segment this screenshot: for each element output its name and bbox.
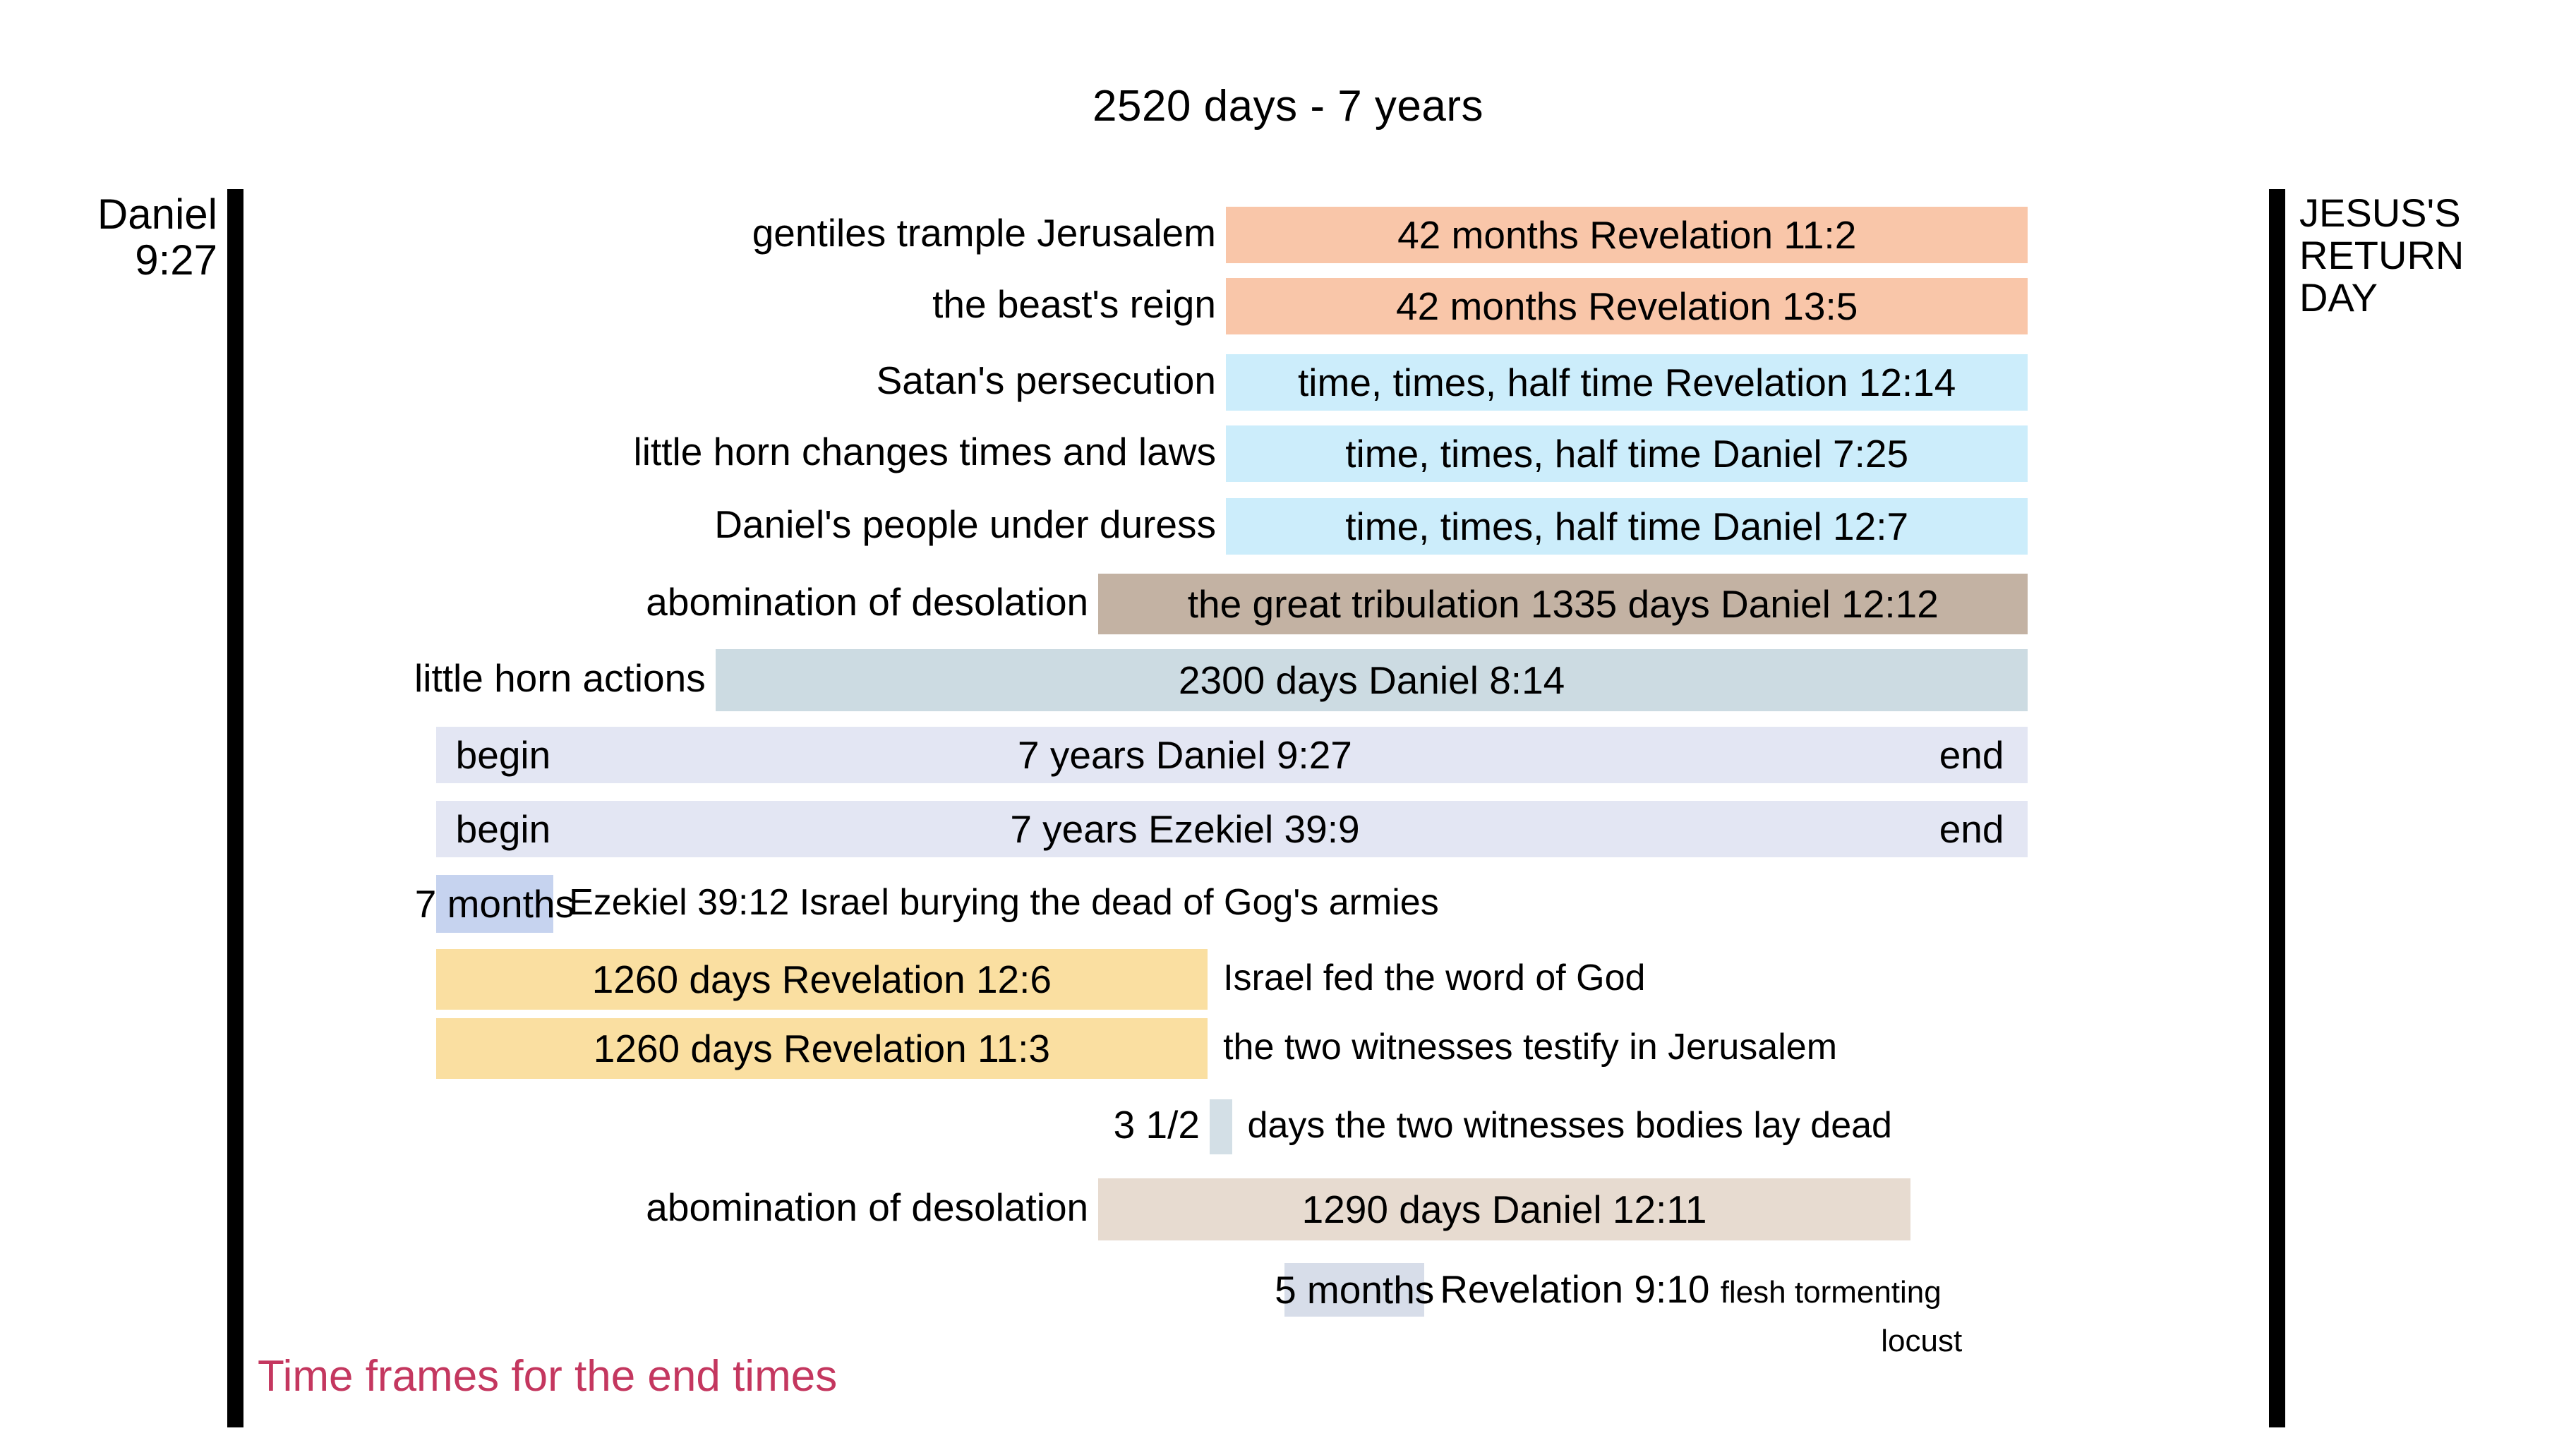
row-lead-label: little horn changes times and laws bbox=[634, 433, 1216, 471]
row-bar-text: 42 months Revelation 11:2 bbox=[1397, 216, 1856, 255]
row-lead-label: Satan's persecution bbox=[877, 361, 1216, 400]
row-bar-text: 1260 days Revelation 11:3 bbox=[594, 1029, 1050, 1068]
timeline-row: Satan's persecutiontime, times, half tim… bbox=[0, 354, 2576, 411]
timeline-row: begin7 years Daniel 9:27end bbox=[0, 727, 2576, 783]
timeline-bar-seven-months-ezekiel-39-12: 7 months bbox=[436, 875, 553, 933]
row-bar-text: time, times, half time Daniel 12:7 bbox=[1345, 507, 1908, 546]
row-trail-label: days the two witnesses bodies lay dead bbox=[1248, 1107, 1892, 1144]
row-bar-text: 2300 days Daniel 8:14 bbox=[1179, 661, 1565, 700]
row-trail-label: Israel fed the word of God bbox=[1223, 960, 1645, 996]
row-end-label: end bbox=[1939, 810, 2004, 849]
timeline-bar-daniels-people-under-duress: time, times, half time Daniel 12:7 bbox=[1226, 498, 2028, 555]
row-bar-text: 1290 days Daniel 12:11 bbox=[1302, 1190, 1707, 1229]
timeline-row: the beast's reign42 months Revelation 13… bbox=[0, 278, 2576, 334]
row-bar-text: 7 months bbox=[415, 885, 574, 924]
timeline-row: little horn actions2300 days Daniel 8:14 bbox=[0, 649, 2576, 711]
timeline-row: 3 1/2days the two witnesses bodies lay d… bbox=[0, 1099, 2576, 1154]
timeline-bar-seven-years-daniel-9-27: begin7 years Daniel 9:27end bbox=[436, 727, 2028, 783]
timeline-row: 5 monthslocustRevelation 9:10 flesh torm… bbox=[0, 1263, 2576, 1317]
row-bar-text: 42 months Revelation 13:5 bbox=[1396, 287, 1858, 326]
timeline-bar-little-horn-changes-times-and-laws: time, times, half time Daniel 7:25 bbox=[1226, 425, 2028, 482]
row-bar-text: 5 months bbox=[1275, 1271, 1434, 1310]
row-lead-label: abomination of desolation bbox=[646, 1188, 1088, 1227]
timeline-row: Daniel's people under duresstime, times,… bbox=[0, 498, 2576, 555]
row-lead-label: 3 1/2 bbox=[1114, 1106, 1200, 1144]
chart-caption: Time frames for the end times bbox=[258, 1351, 837, 1401]
row-bar-text: 1260 days Revelation 12:6 bbox=[592, 960, 1052, 999]
row-begin-label: begin bbox=[456, 810, 551, 849]
row-bar-text: 7 years Ezekiel 39:9 bbox=[1010, 810, 1359, 849]
timeline-bar-little-horn-actions-2300-days: 2300 days Daniel 8:14 bbox=[716, 649, 2028, 711]
row-lead-label: gentiles trample Jerusalem bbox=[752, 214, 1216, 253]
timeline-row: little horn changes times and lawstime, … bbox=[0, 425, 2576, 482]
row-lead-label: abomination of desolation bbox=[646, 583, 1088, 622]
row-trail-reference: Revelation 9:10 bbox=[1440, 1267, 1721, 1311]
row-bar-text: the great tribulation 1335 days Daniel 1… bbox=[1188, 585, 1939, 624]
row-bar-text: time, times, half time Daniel 7:25 bbox=[1345, 435, 1908, 473]
timeline-bar-seven-years-ezekiel-39-9: begin7 years Ezekiel 39:9end bbox=[436, 801, 2028, 857]
row-begin-label: begin bbox=[456, 736, 551, 775]
row-trail-note-line2: locust bbox=[1440, 1324, 1962, 1359]
row-lead-label: Daniel's people under duress bbox=[714, 505, 1216, 544]
row-bar-text: time, times, half time Revelation 12:14 bbox=[1298, 363, 1956, 402]
timeline-bar-five-months-revelation-9-10: 5 months bbox=[1284, 1263, 1424, 1317]
timeline-row: 7 monthsEzekiel 39:12 Israel burying the… bbox=[0, 875, 2576, 933]
row-trail-label: Revelation 9:10 flesh tormenting bbox=[1440, 1270, 1942, 1309]
timeline-bar-great-tribulation-1335-days: the great tribulation 1335 days Daniel 1… bbox=[1098, 574, 2028, 634]
timeline-bar-beasts-reign: 42 months Revelation 13:5 bbox=[1226, 278, 2028, 334]
timeline-row: 1260 days Revelation 11:3the two witness… bbox=[0, 1018, 2576, 1079]
row-end-label: end bbox=[1939, 736, 2004, 775]
timeline-row: gentiles trample Jerusalem42 months Reve… bbox=[0, 207, 2576, 263]
timeline-bar-1260-days-revelation-12-6: 1260 days Revelation 12:6 bbox=[436, 949, 1208, 1010]
timeline-row: abomination of desolation1290 days Danie… bbox=[0, 1178, 2576, 1240]
timeline-row: begin7 years Ezekiel 39:9end bbox=[0, 801, 2576, 857]
row-bar-text: 7 years Daniel 9:27 bbox=[1018, 736, 1352, 775]
row-lead-label: little horn actions bbox=[414, 659, 706, 698]
timeline-bar-three-and-half-days bbox=[1210, 1099, 1232, 1154]
timeline-bar-1290-days-daniel-12-11: 1290 days Daniel 12:11 bbox=[1098, 1178, 1910, 1240]
row-trail-note: flesh tormenting bbox=[1721, 1275, 1942, 1310]
row-lead-label: the beast's reign bbox=[932, 285, 1216, 324]
row-trail-label: the two witnesses testify in Jerusalem bbox=[1223, 1029, 1837, 1065]
timeline-bar-gentiles-trample-jerusalem: 42 months Revelation 11:2 bbox=[1226, 207, 2028, 263]
timeline-bar-satans-persecution: time, times, half time Revelation 12:14 bbox=[1226, 354, 2028, 411]
timeline-row: 1260 days Revelation 12:6Israel fed the … bbox=[0, 949, 2576, 1010]
row-trail-label: Ezekiel 39:12 Israel burying the dead of… bbox=[569, 884, 1439, 921]
timeline-bar-1260-days-revelation-11-3: 1260 days Revelation 11:3 bbox=[436, 1018, 1208, 1079]
timeline-rows: gentiles trample Jerusalem42 months Reve… bbox=[0, 0, 2576, 1450]
timeline-row: abomination of desolationthe great tribu… bbox=[0, 574, 2576, 634]
